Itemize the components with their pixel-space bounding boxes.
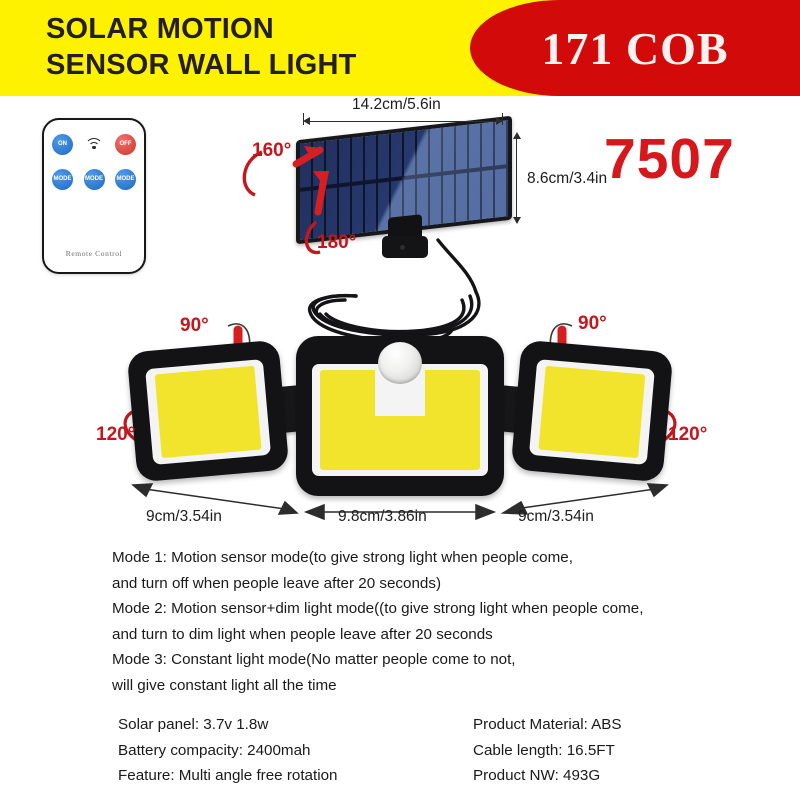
specs-right-column: Product Material: ABS Cable length: 16.5… xyxy=(473,712,622,789)
cob-count-label: 171 COB xyxy=(541,22,728,75)
page-title: SOLAR MOTION SENSOR WALL LIGHT xyxy=(46,11,357,83)
solar-panel-illustration xyxy=(296,128,512,248)
remote-caption: Remote Control xyxy=(44,249,144,258)
left-head-tilt-angle-label: 90° xyxy=(180,315,209,337)
remote-mode-row: MODE MODE MODE xyxy=(52,168,136,190)
spec-line: Feature: Multi angle free rotation xyxy=(118,763,473,789)
remote-mode1-label: MODE xyxy=(54,176,72,182)
left-cob-panel xyxy=(155,366,262,458)
mode-line: will give constant light all the time xyxy=(112,673,712,699)
title-line-2: SENSOR WALL LIGHT xyxy=(46,47,357,83)
product-infographic: SOLAR MOTION SENSOR WALL LIGHT 171 COB 7… xyxy=(0,0,800,800)
solar-width-label: 14.2cm/5.6in xyxy=(352,96,441,114)
mode-line: Mode 1: Motion sensor mode(to give stron… xyxy=(112,545,712,571)
spec-line: Battery compacity: 2400mah xyxy=(118,738,473,764)
spec-line: Product Material: ABS xyxy=(473,712,622,738)
specifications-block: Solar panel: 3.7v 1.8w Battery compacity… xyxy=(118,712,738,789)
remote-top-row: ON OFF xyxy=(52,133,136,155)
remote-control: ON OFF MODE MODE MODE Remote Control xyxy=(42,118,146,274)
pir-sensor-icon xyxy=(378,342,422,384)
mode-line: and turn off when people leave after 20 … xyxy=(112,571,712,597)
lamp-assembly xyxy=(120,330,680,500)
solar-swivel-angle-label: 180° xyxy=(317,232,356,254)
solar-tilt-angle-label: 160° xyxy=(252,140,291,162)
left-head-swivel-angle-label: 120° xyxy=(96,424,135,446)
mode-line: Mode 2: Motion sensor+dim light mode((to… xyxy=(112,596,712,622)
spec-line: Cable length: 16.5FT xyxy=(473,738,622,764)
mode-line: and turn to dim light when people leave … xyxy=(112,622,712,648)
remote-on-button[interactable]: ON xyxy=(52,134,73,155)
solar-height-dimension xyxy=(512,132,522,224)
mode-line: Mode 3: Constant light mode(No matter pe… xyxy=(112,647,712,673)
spec-line: Product NW: 493G xyxy=(473,763,622,789)
mode-description-block: Mode 1: Motion sensor mode(to give stron… xyxy=(112,545,712,698)
spec-line: Solar panel: 3.7v 1.8w xyxy=(118,712,473,738)
specs-left-column: Solar panel: 3.7v 1.8w Battery compacity… xyxy=(118,712,473,789)
wifi-icon xyxy=(84,137,104,151)
remote-mode2-label: MODE xyxy=(85,176,103,182)
right-head-swivel-angle-label: 120° xyxy=(668,424,707,446)
right-lamp-head xyxy=(511,340,674,483)
remote-off-label: OFF xyxy=(120,141,132,147)
solar-height-label: 8.6cm/3.4in xyxy=(527,170,607,188)
solar-panel-base xyxy=(382,236,428,258)
remote-on-label: ON xyxy=(58,141,67,147)
right-head-tilt-angle-label: 90° xyxy=(578,313,607,335)
title-line-1: SOLAR MOTION xyxy=(46,11,357,47)
right-lamp-width-label: 9cm/3.54in xyxy=(518,508,594,526)
remote-mode3-button[interactable]: MODE xyxy=(115,169,136,190)
left-lamp-width-label: 9cm/3.54in xyxy=(146,508,222,526)
remote-off-button[interactable]: OFF xyxy=(115,134,136,155)
solar-width-dimension xyxy=(303,116,503,126)
remote-mode2-button[interactable]: MODE xyxy=(84,169,105,190)
center-lamp-width-label: 9.8cm/3.86in xyxy=(338,508,427,526)
remote-mode3-label: MODE xyxy=(117,176,135,182)
cob-count-badge: 171 COB xyxy=(470,0,800,96)
center-lamp-head xyxy=(296,336,504,496)
model-number: 7507 xyxy=(604,126,735,192)
left-lamp-head xyxy=(127,340,290,483)
right-cob-panel xyxy=(538,366,645,458)
remote-mode1-button[interactable]: MODE xyxy=(52,169,73,190)
